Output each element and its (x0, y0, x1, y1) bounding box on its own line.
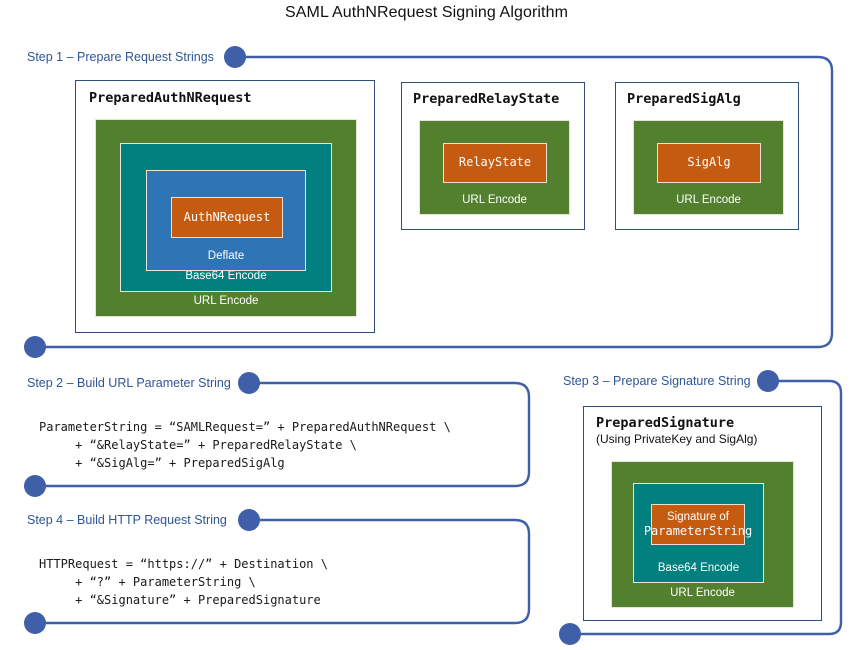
layer-caption-url-encode: URL Encode (670, 588, 735, 600)
panel-prepared-authnrequest: PreparedAuthNRequest URL Encode Base64 E… (75, 80, 375, 333)
panel-title-prepared-relaystate: PreparedRelayState (413, 91, 559, 107)
chip-label-relaystate: RelayState (459, 156, 531, 170)
layer-caption-deflate: Deflate (208, 251, 244, 263)
chip-sigalg: SigAlg (657, 143, 761, 183)
code-http-request: HTTPRequest = “https://” + Destination \… (39, 555, 328, 610)
panel-prepared-signature: PreparedSignature (Using PrivateKey and … (583, 406, 822, 621)
chip-label-authnrequest: AuthNRequest (184, 211, 271, 225)
panel-prepared-relaystate: PreparedRelayState URL Encode RelayState (401, 82, 585, 230)
chip-label-sigalg: SigAlg (687, 156, 730, 170)
diagram-canvas: SAML AuthNRequest Signing Algorithm Step… (0, 0, 853, 650)
step-label-2: Step 2 – Build URL Parameter String (27, 376, 231, 390)
layer-caption-base64-encode: Base64 Encode (658, 563, 739, 575)
code-parameter-string: ParameterString = “SAMLRequest=” + Prepa… (39, 418, 451, 473)
panel-title-prepared-signature: PreparedSignature (596, 415, 757, 431)
chip-label-signature-of: Signature of (667, 511, 729, 525)
panel-subtitle-prepared-signature: (Using PrivateKey and SigAlg) (596, 432, 757, 446)
step-label-4: Step 4 – Build HTTP Request String (27, 513, 227, 527)
panel-title-prepared-authnrequest: PreparedAuthNRequest (89, 90, 252, 106)
chip-authnrequest: AuthNRequest (171, 197, 283, 238)
panel-heading-prepared-signature: PreparedSignature (Using PrivateKey and … (596, 415, 757, 446)
chip-label-parameterstring: ParameterString (644, 525, 752, 539)
layer-caption-base64-encode: Base64 Encode (185, 271, 266, 283)
panel-prepared-sigalg: PreparedSigAlg URL Encode SigAlg (615, 82, 799, 230)
layer-caption-url-encode: URL Encode (676, 195, 741, 207)
chip-relaystate: RelayState (443, 143, 547, 183)
layer-caption-url-encode: URL Encode (462, 195, 527, 207)
layer-caption-url-encode: URL Encode (194, 296, 259, 308)
step-label-1: Step 1 – Prepare Request Strings (27, 50, 214, 64)
step-label-3: Step 3 – Prepare Signature String (563, 374, 751, 388)
panel-title-prepared-sigalg: PreparedSigAlg (627, 91, 741, 107)
chip-signature-of-parameterstring: Signature of ParameterString (651, 504, 745, 545)
